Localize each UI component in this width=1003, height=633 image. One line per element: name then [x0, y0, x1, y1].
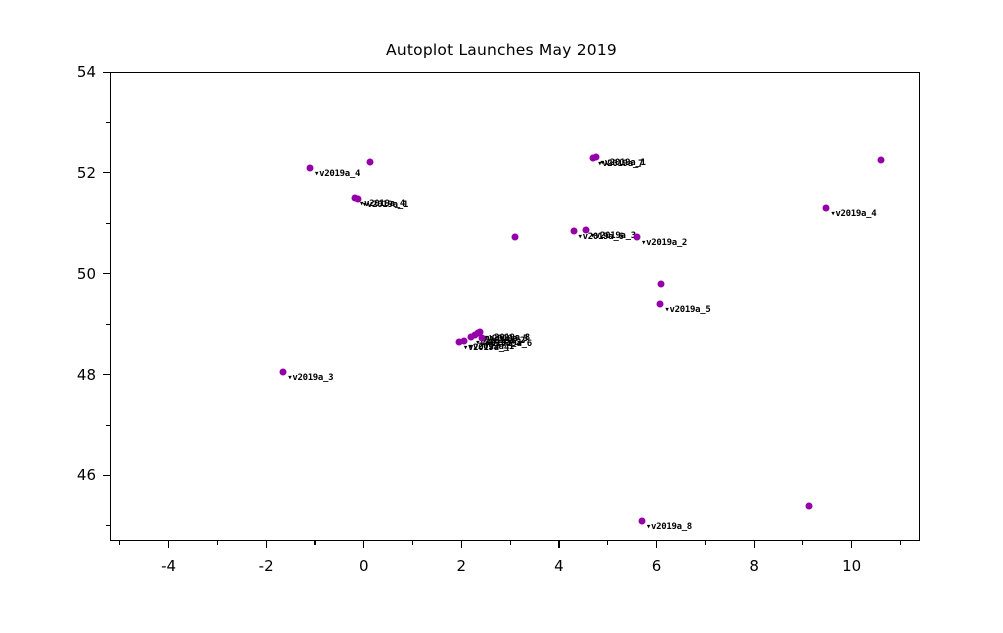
data-point-label: ▾v2019a_4 — [314, 169, 360, 179]
data-point[interactable] — [366, 158, 373, 165]
x-tick-minor — [705, 541, 706, 545]
x-tick-major — [656, 541, 657, 548]
x-tick-minor — [217, 541, 218, 545]
x-tick-major — [266, 541, 267, 548]
y-tick-minor — [106, 223, 110, 224]
data-point-label: ▾v2019a_1 — [600, 158, 646, 168]
data-point[interactable] — [658, 280, 665, 287]
x-tick-minor — [607, 541, 608, 545]
y-tick-label: 54 — [64, 63, 96, 81]
data-point[interactable] — [657, 300, 664, 307]
map-plot-area — [110, 72, 920, 541]
data-point[interactable] — [638, 517, 645, 524]
data-point[interactable] — [877, 157, 884, 164]
x-tick-label: 0 — [359, 557, 369, 575]
x-tick-minor — [119, 541, 120, 545]
y-tick-major — [103, 172, 110, 173]
x-tick-minor — [900, 541, 901, 545]
y-tick-label: 50 — [64, 265, 96, 283]
data-point[interactable] — [512, 234, 519, 241]
x-tick-minor — [510, 541, 511, 545]
data-point[interactable] — [592, 154, 599, 161]
data-point[interactable] — [354, 195, 361, 202]
y-tick-label: 46 — [64, 466, 96, 484]
data-point[interactable] — [307, 164, 314, 171]
coastline-layer — [111, 73, 919, 540]
y-tick-major — [103, 475, 110, 476]
chart-title: Autoplot Launches May 2019 — [0, 41, 1003, 59]
data-point-label: ▾v2019a_4 — [830, 209, 876, 219]
y-tick-minor — [106, 425, 110, 426]
x-tick-label: -2 — [259, 557, 274, 575]
x-tick-major — [851, 541, 852, 548]
data-point-label: ▾v2019a_2 — [641, 238, 687, 248]
y-tick-label: 48 — [64, 366, 96, 384]
x-tick-minor — [412, 541, 413, 545]
data-point[interactable] — [582, 226, 589, 233]
data-point[interactable] — [823, 205, 830, 212]
x-tick-major — [363, 541, 364, 548]
data-point-label: ▾v2019a_6 — [486, 339, 532, 349]
data-point-label: ▾v2019a_1 — [362, 200, 408, 210]
x-tick-label: -4 — [161, 557, 176, 575]
x-tick-major — [168, 541, 169, 548]
x-tick-label: 10 — [842, 557, 861, 575]
x-tick-label: 8 — [749, 557, 759, 575]
data-point-label: ▾v2019a_3 — [590, 231, 636, 241]
x-tick-minor — [802, 541, 803, 545]
y-tick-label: 52 — [64, 164, 96, 182]
x-tick-minor — [314, 541, 315, 545]
data-point[interactable] — [570, 227, 577, 234]
data-point-label: ▾v2019a_8 — [646, 522, 692, 532]
data-point[interactable] — [633, 234, 640, 241]
x-tick-label: 6 — [652, 557, 662, 575]
data-point[interactable] — [280, 369, 287, 376]
y-tick-minor — [106, 122, 110, 123]
y-tick-minor — [106, 324, 110, 325]
data-point[interactable] — [805, 502, 812, 509]
y-tick-major — [103, 374, 110, 375]
x-tick-major — [558, 541, 559, 548]
y-tick-major — [103, 72, 110, 73]
x-tick-label: 4 — [554, 557, 564, 575]
data-point[interactable] — [460, 338, 467, 345]
y-tick-major — [103, 273, 110, 274]
data-point-label: ▾v2019a_5 — [664, 305, 710, 315]
x-tick-major — [754, 541, 755, 548]
y-tick-minor — [106, 525, 110, 526]
data-point-label: ▾v2019a_3 — [287, 373, 333, 383]
figure-canvas: Autoplot Launches May 2019 — [0, 0, 1003, 633]
data-point[interactable] — [478, 335, 485, 342]
x-tick-label: 2 — [457, 557, 467, 575]
x-tick-major — [461, 541, 462, 548]
